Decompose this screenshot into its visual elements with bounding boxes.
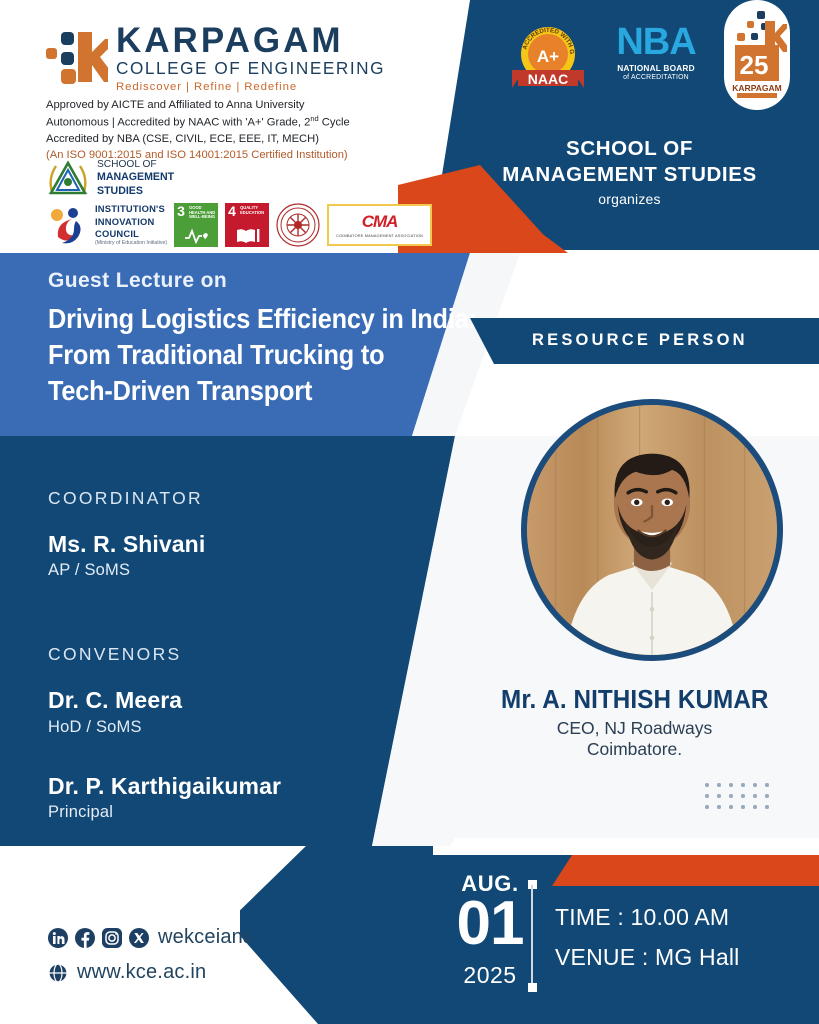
organizing-team: COORDINATOR Ms. R. Shivani AP / SoMS CON… <box>48 488 378 822</box>
website-row: www.kce.ac.in <box>48 961 253 984</box>
partner-logo-strip: INSTITUTION'S INNOVATION COUNCIL (Minist… <box>46 203 432 247</box>
event-poster: KARPAGAM COLLEGE OF ENGINEERING Rediscov… <box>0 0 819 1024</box>
accreditation-line-3: Accredited by NBA (CSE, CIVIL, ECE, EEE,… <box>46 132 416 148</box>
social-handle[interactable]: wekceians <box>158 926 253 949</box>
event-title-line-1: Driving Logistics Efficiency in India: <box>48 301 398 337</box>
karpagam-25-years-badge: 25 KARPAGAM <box>724 0 790 110</box>
social-row: wekceians <box>48 926 253 949</box>
iic-logo-text: INSTITUTION'S INNOVATION COUNCIL (Minist… <box>95 203 167 246</box>
accreditation-lines: Approved by AICTE and Affiliated to Anna… <box>46 98 416 163</box>
accreditation-badges: ACCREDITED WITH GRADE A+ NAAC NBA NATION… <box>508 18 790 110</box>
institution-logo-block: KARPAGAM COLLEGE OF ENGINEERING Rediscov… <box>46 22 416 163</box>
iic-line-2: INNOVATION <box>95 216 167 228</box>
sdg4-title: QUALITY EDUCATION <box>240 206 267 215</box>
school-of-management-logo: SCHOOL OF MANAGEMENT STUDIES <box>46 158 174 198</box>
convenor-2-name: Dr. P. Karthigaikumar <box>48 773 378 799</box>
svg-text:NAAC: NAAC <box>528 71 568 87</box>
svg-text:A+: A+ <box>537 47 559 66</box>
sdg3-number: 3 <box>177 204 185 218</box>
anna-university-seal-icon <box>276 203 320 247</box>
svg-text:25: 25 <box>740 50 769 80</box>
nba-caption: NATIONAL BOARD of ACCREDITATION <box>610 64 702 82</box>
accreditation-line-1: Approved by AICTE and Affiliated to Anna… <box>46 98 416 114</box>
soms-line-3: STUDIES <box>97 185 143 197</box>
cma-sub: COIMBATORE MANAGEMENT ASSOCIATION <box>336 233 423 238</box>
instagram-icon <box>102 928 122 948</box>
event-time: TIME : 10.00 AM <box>555 904 729 931</box>
iic-sub: (Ministry of Education Initiative) <box>95 240 167 247</box>
cma-mark: CMA <box>362 213 398 230</box>
convenor-2-role: Principal <box>48 803 378 822</box>
svg-text:NBA: NBA <box>616 21 696 62</box>
iic-line-3: COUNCIL <box>95 228 167 240</box>
coordinator-name: Ms. R. Shivani <box>48 531 378 557</box>
resource-person-name: Mr. A. NITHISH KUMAR <box>450 686 819 715</box>
dot-grid-decoration <box>705 783 777 816</box>
facebook-icon <box>75 928 95 948</box>
institution-subtitle: COLLEGE OF ENGINEERING <box>116 59 385 79</box>
convenor-1-name: Dr. C. Meera <box>48 687 378 713</box>
iic-line-1: INSTITUTION'S <box>95 203 167 215</box>
institution-tagline: Rediscover | Refine | Redefine <box>116 81 385 93</box>
organizer-line-3: organizes <box>440 191 819 207</box>
nba-line-2: of ACCREDITATION <box>610 74 702 82</box>
organizer-line-2: MANAGEMENT STUDIES <box>440 162 819 188</box>
x-twitter-icon <box>129 928 149 948</box>
linkedin-icon <box>48 928 68 948</box>
svg-text:KARPAGAM: KARPAGAM <box>732 83 781 93</box>
resource-person-role: CEO, NJ Roadways Coimbatore. <box>450 718 819 761</box>
cma-logo: CMA COIMBATORE MANAGEMENT ASSOCIATION <box>327 204 432 246</box>
social-icons <box>48 928 149 948</box>
soms-line-1: SCHOOL OF <box>97 158 174 171</box>
convenor-1-role: HoD / SoMS <box>48 718 378 737</box>
convenors-heading: CONVENORS <box>48 644 378 665</box>
nba-logo-icon: NBA <box>610 18 702 62</box>
karpagam-logo-icon <box>46 26 108 88</box>
nba-badge: NBA NATIONAL BOARD of ACCREDITATION <box>610 18 702 96</box>
iic-emblem-icon <box>46 203 90 247</box>
event-year: 2025 <box>450 962 530 989</box>
sdg4-number: 4 <box>228 204 236 218</box>
naac-badge-icon: ACCREDITED WITH GRADE A+ NAAC <box>508 18 588 98</box>
schedule-divider <box>528 880 537 992</box>
soms-logo-text: SCHOOL OF MANAGEMENT STUDIES <box>97 158 174 198</box>
event-venue: VENUE : MG Hall <box>555 944 739 971</box>
organizer-line-1: SCHOOL OF <box>440 136 819 162</box>
coordinator-heading: COORDINATOR <box>48 488 378 509</box>
sdg-goal-4-icon: 4 QUALITY EDUCATION <box>225 203 269 247</box>
accreditation-line-2: Autonomous | Accredited by NAAC with 'A+… <box>46 114 416 132</box>
resource-person-role-line-1: CEO, NJ Roadways <box>450 718 819 739</box>
nba-line-1: NATIONAL BOARD <box>610 64 702 74</box>
event-title-band: Guest Lecture on Driving Logistics Effic… <box>0 253 436 435</box>
event-pretitle: Guest Lecture on <box>48 269 227 293</box>
resource-person-role-line-2: Coimbatore. <box>450 739 819 760</box>
schedule-bar: AUG. 01 2025 TIME : 10.00 AM VENUE : MG … <box>433 855 819 1024</box>
resource-person-band: RESOURCE PERSON <box>494 318 819 364</box>
organizer-title: SCHOOL OF MANAGEMENT STUDIES organizes <box>440 136 819 207</box>
soms-emblem-icon <box>46 158 90 198</box>
sdg3-title: GOOD HEALTH AND WELL-BEING <box>189 206 216 220</box>
poster-header: KARPAGAM COLLEGE OF ENGINEERING Rediscov… <box>0 0 819 250</box>
soms-line-2: MANAGEMENT <box>97 171 174 183</box>
website-url[interactable]: www.kce.ac.in <box>77 961 206 984</box>
event-title: Driving Logistics Efficiency in India: F… <box>48 301 428 408</box>
resource-person-label: RESOURCE PERSON <box>532 331 748 350</box>
event-title-line-2: From Traditional Trucking to <box>48 337 398 373</box>
event-day: 01 <box>450 893 530 955</box>
cycle-superscript: nd <box>310 114 318 123</box>
iic-logo: INSTITUTION'S INNOVATION COUNCIL (Minist… <box>46 203 167 247</box>
event-title-line-3: Tech-Driven Transport <box>48 373 398 409</box>
resource-person-photo <box>521 399 783 661</box>
footer-links: wekceians www.kce.ac.in <box>48 926 253 984</box>
globe-icon-wrap <box>48 963 68 983</box>
coordinator-role: AP / SoMS <box>48 561 378 580</box>
sdg-goal-3-icon: 3 GOOD HEALTH AND WELL-BEING <box>174 203 218 247</box>
institution-name: KARPAGAM <box>116 24 385 58</box>
globe-icon <box>48 963 68 983</box>
